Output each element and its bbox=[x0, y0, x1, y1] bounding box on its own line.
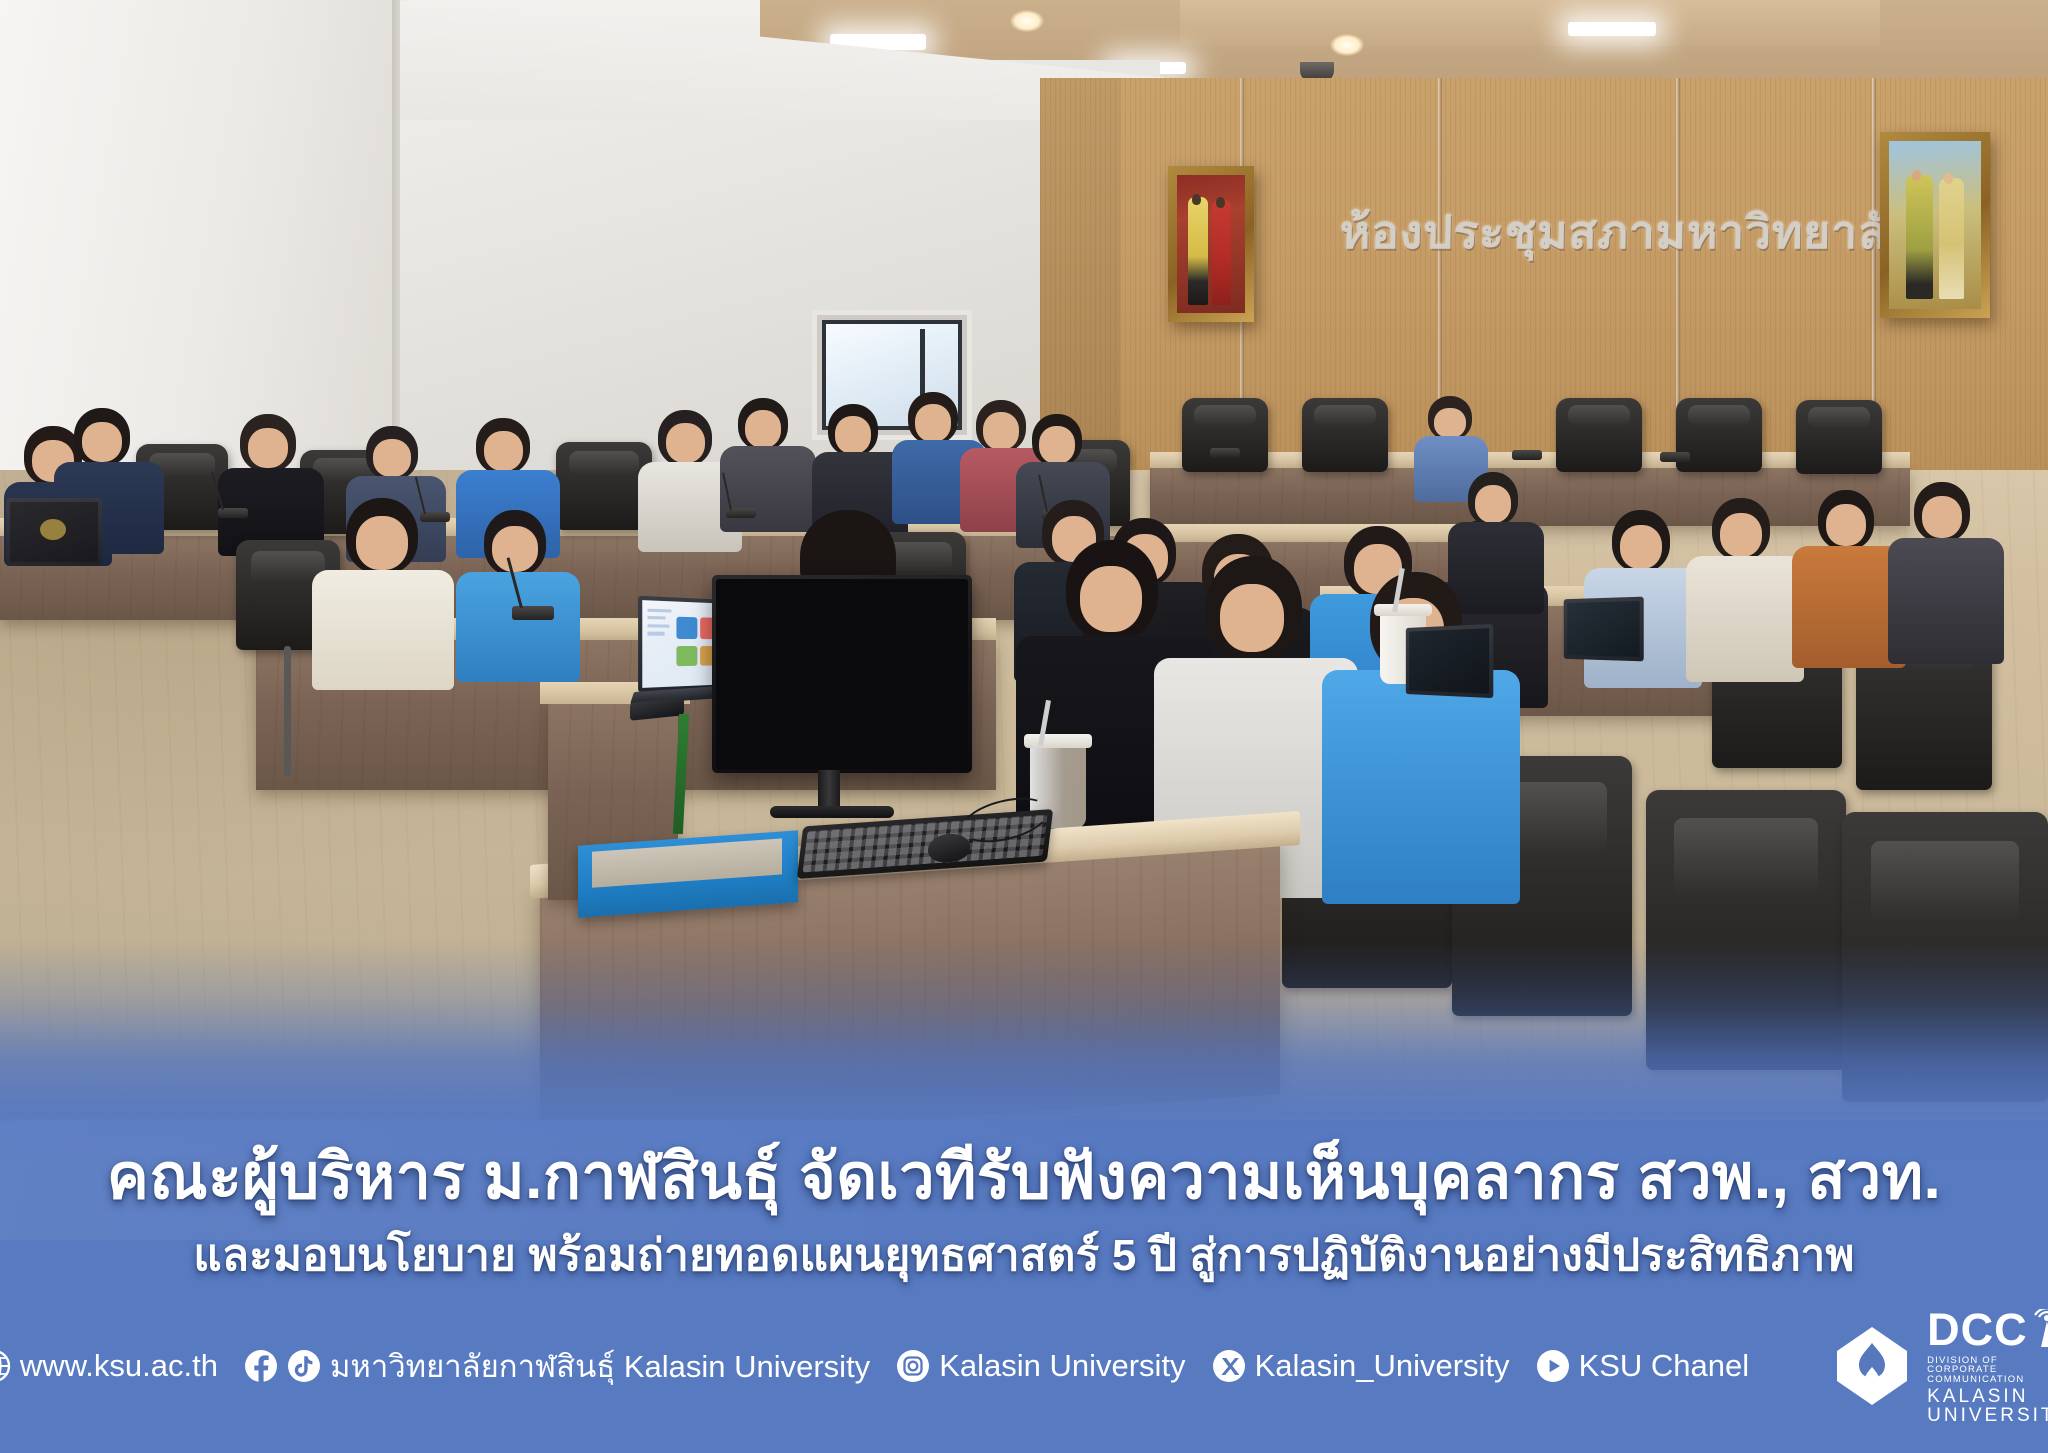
instagram-icon bbox=[896, 1349, 930, 1383]
broadcast-tower-icon bbox=[2032, 1309, 2048, 1349]
microphone bbox=[1660, 452, 1690, 462]
ceiling-wood-soffit-upper bbox=[1180, 0, 1880, 46]
x-twitter-icon bbox=[1212, 1349, 1246, 1383]
cup-lid bbox=[1024, 734, 1092, 748]
footer-website[interactable]: www.ksu.ac.th bbox=[0, 1348, 218, 1384]
back-desk bbox=[1150, 468, 1910, 526]
headline-block: คณะผู้บริหาร ม.กาฬสินธุ์ จัดเวทีรับฟังคว… bbox=[0, 1140, 2048, 1283]
monitor-stand bbox=[770, 806, 894, 818]
dcc-subtitle-university: KALASIN UNIVERSITY bbox=[1927, 1387, 2048, 1425]
youtube-icon bbox=[1536, 1349, 1570, 1383]
royal-portrait-left bbox=[1168, 166, 1254, 322]
cup-lid bbox=[1374, 604, 1432, 616]
monitor-neck bbox=[818, 770, 840, 810]
footer-facebook-tiktok[interactable]: มหาวิทยาลัยกาฬสินธุ์ Kalasin University bbox=[244, 1341, 870, 1391]
microphone bbox=[512, 606, 554, 620]
laptop bbox=[1406, 624, 1493, 698]
chair bbox=[1796, 400, 1882, 474]
footer-x-label: Kalasin_University bbox=[1255, 1348, 1510, 1384]
page-title: คณะผู้บริหาร ม.กาฬสินธุ์ จัดเวทีรับฟังคว… bbox=[0, 1140, 2048, 1214]
facebook-icon bbox=[244, 1349, 278, 1383]
meeting-room-photo: ห้องประชุมสภามหาวิทยาลัย bbox=[0, 0, 2048, 1120]
tiktok-icon bbox=[287, 1349, 321, 1383]
poster-root: ห้องประชุมสภามหาวิทยาลัย bbox=[0, 0, 2048, 1453]
laptop bbox=[1564, 597, 1644, 662]
downlight-1 bbox=[1010, 10, 1044, 32]
laptop bbox=[6, 498, 102, 566]
blue-tray bbox=[578, 830, 798, 917]
chair bbox=[1646, 790, 1846, 1070]
chair bbox=[1556, 398, 1642, 472]
globe-icon bbox=[0, 1349, 11, 1383]
royal-portrait-right bbox=[1880, 132, 1990, 318]
page-subtitle: และมอบนโยบาย พร้อมถ่ายทอดแผนยุทธศาสตร์ 5… bbox=[0, 1228, 2048, 1283]
footer-facebook-label: มหาวิทยาลัยกาฬสินธุ์ Kalasin University bbox=[330, 1341, 870, 1391]
room-sign-label: ห้องประชุมสภามหาวิทยาลัย bbox=[1339, 196, 1760, 269]
downlight-2 bbox=[1330, 34, 1364, 56]
footer-instagram-label: Kalasin University bbox=[939, 1348, 1185, 1384]
footer-x-twitter[interactable]: Kalasin_University bbox=[1212, 1348, 1510, 1384]
dcc-title: DCC bbox=[1927, 1307, 2028, 1352]
dcc-subtitle-division: DIVISION OF CORPORATE COMMUNICATION bbox=[1927, 1356, 2048, 1385]
footer-bar: www.ksu.ac.th มหาวิทยาลัยกาฬสินธุ์ Kalas… bbox=[0, 1307, 2048, 1426]
desktop-monitor bbox=[712, 575, 972, 773]
footer-youtube-label: KSU Chanel bbox=[1579, 1348, 1750, 1384]
monitor-screen bbox=[716, 579, 968, 769]
wall-left bbox=[0, 0, 400, 470]
chair bbox=[1302, 398, 1388, 472]
footer-website-label: www.ksu.ac.th bbox=[20, 1348, 218, 1384]
footer-instagram[interactable]: Kalasin University bbox=[896, 1348, 1185, 1384]
chair bbox=[1182, 398, 1268, 472]
chair bbox=[1842, 812, 2048, 1102]
dcc-logo: DCC DIVISION OF CORPORATE COMMUNICATION … bbox=[1829, 1307, 2048, 1426]
ceiling-light-2 bbox=[1568, 22, 1656, 36]
microphone bbox=[1210, 448, 1240, 458]
wood-panel-narrow bbox=[1040, 78, 1126, 458]
microphone bbox=[1512, 450, 1542, 460]
footer-youtube[interactable]: KSU Chanel bbox=[1536, 1348, 1750, 1384]
dcc-flame-shield-icon bbox=[1829, 1323, 1915, 1409]
chair-base bbox=[284, 646, 291, 776]
tray-inner bbox=[592, 838, 782, 887]
